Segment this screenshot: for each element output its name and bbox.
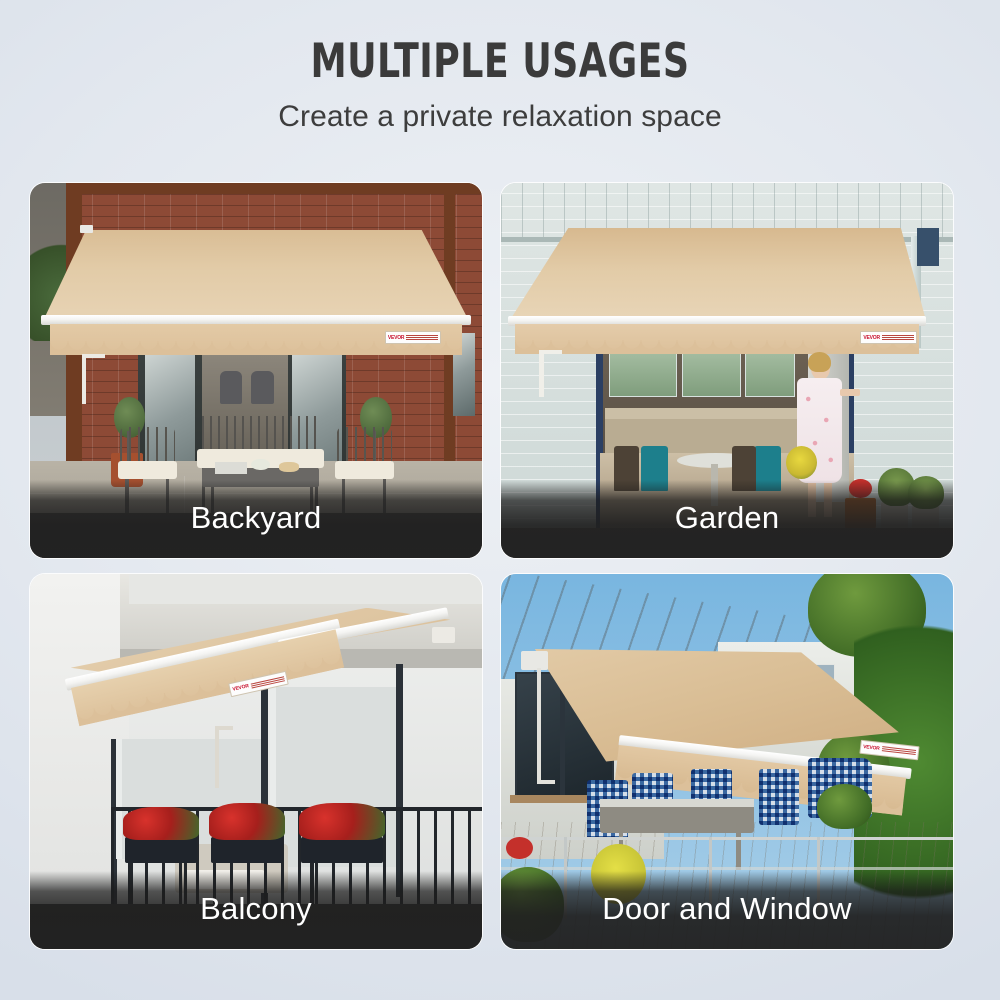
awning-mount-bracket — [432, 627, 455, 644]
awning-canopy — [510, 228, 926, 320]
planter-box-mid — [211, 837, 283, 863]
awning-crank-handle — [537, 668, 541, 781]
armchair-left-cushion — [118, 461, 177, 480]
caption-label: Garden — [675, 500, 780, 538]
woman-hair — [808, 352, 831, 373]
deck-handrail-lower — [501, 867, 953, 870]
vevor-brand-label: VEVOR — [385, 331, 442, 345]
table-glass-top — [600, 799, 754, 807]
vevor-label-lines — [882, 746, 917, 755]
armchair-right-back — [337, 427, 391, 465]
page-subtitle: Create a private relaxation space — [0, 100, 1000, 134]
usage-panel-garden[interactable]: VEVOR Garden — [501, 183, 953, 558]
awning-mount-bracket-left — [80, 225, 94, 233]
interior-bar-chair-right — [251, 371, 274, 405]
panel-caption-door-and-window: Door and Window — [501, 871, 953, 949]
awning-crank-elbow — [82, 354, 105, 358]
patio-chair-4 — [759, 769, 800, 825]
vevor-brand-label: VEVOR — [860, 331, 917, 345]
interior-bar-chair-left — [220, 371, 243, 405]
woman-arm — [840, 389, 860, 396]
awning-crank-handle — [82, 356, 87, 405]
valance-scallop-edge — [515, 340, 920, 354]
geraniums-right — [299, 803, 385, 841]
kitchen-window-left — [609, 348, 677, 397]
wall-bracket — [917, 228, 940, 266]
awning-canopy — [44, 230, 469, 320]
red-geranium-foreground — [506, 837, 533, 860]
awning-crank-elbow — [539, 350, 562, 354]
armchair-right-cushion — [335, 461, 394, 480]
awning-valance — [515, 324, 920, 354]
garden-bench-back — [202, 416, 320, 450]
table-newspaper — [215, 462, 247, 473]
kitchen-window-mid — [682, 348, 741, 397]
vevor-label-lines — [882, 335, 914, 340]
awning-crank-handle — [215, 728, 219, 788]
usage-panel-grid: VEVOR — [30, 183, 968, 965]
caption-label: Balcony — [200, 891, 312, 929]
planter-box-right — [301, 837, 382, 863]
deck-handrail — [501, 837, 953, 840]
table-bread — [279, 462, 299, 472]
page-title: MULTIPLE USAGES — [70, 38, 930, 86]
usage-panel-door-and-window[interactable]: VEVOR — [501, 574, 953, 949]
geraniums-mid — [209, 803, 286, 841]
caption-label: Door and Window — [602, 891, 851, 929]
panel-caption-balcony: Balcony — [30, 871, 482, 949]
geraniums-left — [123, 807, 200, 841]
usage-panel-backyard[interactable]: VEVOR — [30, 183, 482, 558]
caption-label: Backyard — [191, 500, 322, 538]
vevor-label-lines — [406, 335, 438, 340]
armchair-left-back — [120, 427, 174, 465]
awning-mount-bracket — [521, 651, 548, 670]
vevor-logo-text: VEVOR — [863, 744, 880, 752]
planter-greenery-right — [817, 784, 871, 829]
dining-table — [600, 803, 754, 833]
vevor-logo-text: VEVOR — [388, 335, 405, 341]
panel-caption-garden: Garden — [501, 480, 953, 558]
vevor-logo-text: VEVOR — [232, 683, 249, 692]
kitchen-counter — [605, 408, 813, 419]
kitchen-window-right — [745, 348, 795, 397]
timber-beam-top — [66, 183, 482, 194]
usage-panel-balcony[interactable]: VEVOR Balcony — [30, 574, 482, 949]
awning-crank-elbow — [537, 780, 555, 784]
awning-crank-handle — [539, 352, 544, 397]
panel-caption-backyard: Backyard — [30, 480, 482, 558]
vevor-logo-text: VEVOR — [863, 335, 880, 341]
planter-box-left — [125, 837, 197, 863]
header: MULTIPLE USAGES Create a private relaxat… — [0, 0, 1000, 134]
awning-crank-elbow — [215, 726, 233, 730]
table-bowl — [251, 459, 269, 470]
upper-wall — [129, 574, 482, 604]
